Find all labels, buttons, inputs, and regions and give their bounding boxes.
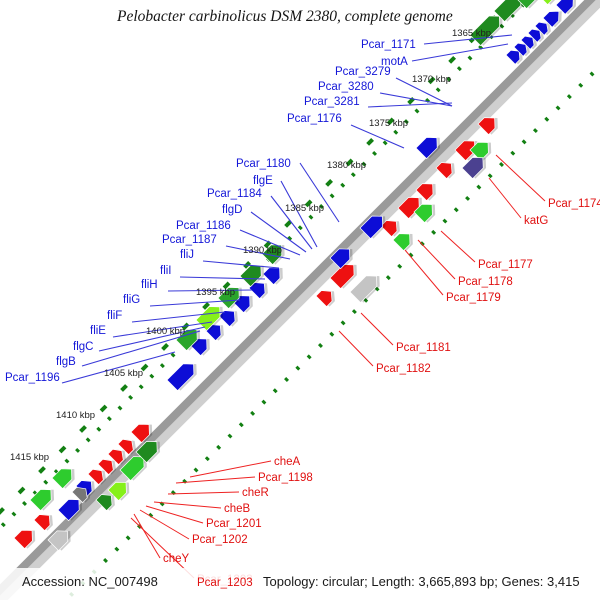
gene-label[interactable]: flgC (73, 341, 93, 353)
scale-tick-label: 1390 kbp (243, 245, 282, 256)
gene-label[interactable]: Pcar_1186 (176, 220, 231, 232)
gene-label[interactable]: fliI (160, 265, 172, 277)
gene-label[interactable]: Pcar_1201 (206, 518, 262, 530)
gene-label[interactable]: fliJ (180, 249, 194, 261)
gene-label[interactable]: Pcar_1198 (258, 472, 313, 484)
gene-label[interactable]: Pcar_1177 (478, 259, 533, 271)
gene-label[interactable]: Pcar_3281 (304, 96, 360, 108)
gene-label[interactable]: Pcar_1176 (287, 113, 342, 125)
genome-map-viewer[interactable]: Pcar_1171motAPcar_3279Pcar_3280Pcar_3281… (0, 0, 600, 600)
scale-tick-label: 1400 kbp (146, 326, 185, 337)
gene-label[interactable]: Pcar_3280 (318, 81, 374, 93)
gene-label[interactable]: cheB (224, 503, 251, 515)
accession-label: Accession: NC_007498 (22, 574, 158, 589)
gene-label[interactable]: flgE (253, 175, 273, 187)
footer-gene-label: Pcar_1203 (197, 577, 253, 589)
gene-label[interactable]: flgB (56, 356, 76, 368)
gene-label[interactable]: katG (524, 215, 548, 227)
scale-tick-label: 1385 kbp (285, 203, 324, 214)
scale-tick-label: 1370 kbp (412, 74, 451, 85)
gene-label[interactable]: fliE (90, 325, 106, 337)
gene-label[interactable]: cheY (163, 553, 190, 565)
gene-label[interactable]: Pcar_1182 (376, 363, 431, 375)
gene-label[interactable]: Pcar_1179 (446, 292, 501, 304)
gene-label[interactable]: fliH (141, 279, 158, 291)
scale-tick-label: 1375 kbp (369, 118, 408, 129)
gene-label[interactable]: Pcar_1180 (236, 158, 291, 170)
page-title: Pelobacter carbinolicus DSM 2380, comple… (116, 8, 453, 25)
gene-label[interactable]: cheR (242, 487, 269, 499)
scale-tick-label: 1405 kbp (104, 368, 143, 379)
scale-tick-label: 1395 kbp (196, 287, 235, 298)
genome-map-canvas[interactable]: Pcar_1171motAPcar_3279Pcar_3280Pcar_3281… (0, 0, 600, 600)
gene-label[interactable]: Pcar_1178 (458, 276, 513, 288)
gene-label[interactable]: Pcar_1202 (192, 534, 248, 546)
gene-label[interactable]: Pcar_1187 (162, 234, 217, 246)
gene-label[interactable]: Pcar_3279 (335, 66, 391, 78)
scale-tick-label: 1415 kbp (10, 452, 49, 463)
gene-label[interactable]: Pcar_1174 (548, 198, 600, 210)
gene-label[interactable]: Pcar_1181 (396, 342, 451, 354)
gene-label[interactable]: cheA (274, 456, 301, 468)
gene-label[interactable]: flgD (222, 204, 242, 216)
gene-label[interactable]: Pcar_1171 (361, 39, 416, 51)
gene-label[interactable]: fliG (123, 294, 140, 306)
scale-tick-label: 1365 kbp (452, 28, 491, 39)
gene-label[interactable]: fliF (107, 310, 122, 322)
genome-stats: Topology: circular; Length: 3,665,893 bp… (263, 574, 580, 589)
gene-label[interactable]: Pcar_1184 (207, 188, 262, 200)
scale-tick-label: 1380 kbp (327, 160, 366, 171)
gene-label[interactable]: Pcar_1196 (5, 372, 60, 384)
scale-tick-label: 1410 kbp (56, 410, 95, 421)
